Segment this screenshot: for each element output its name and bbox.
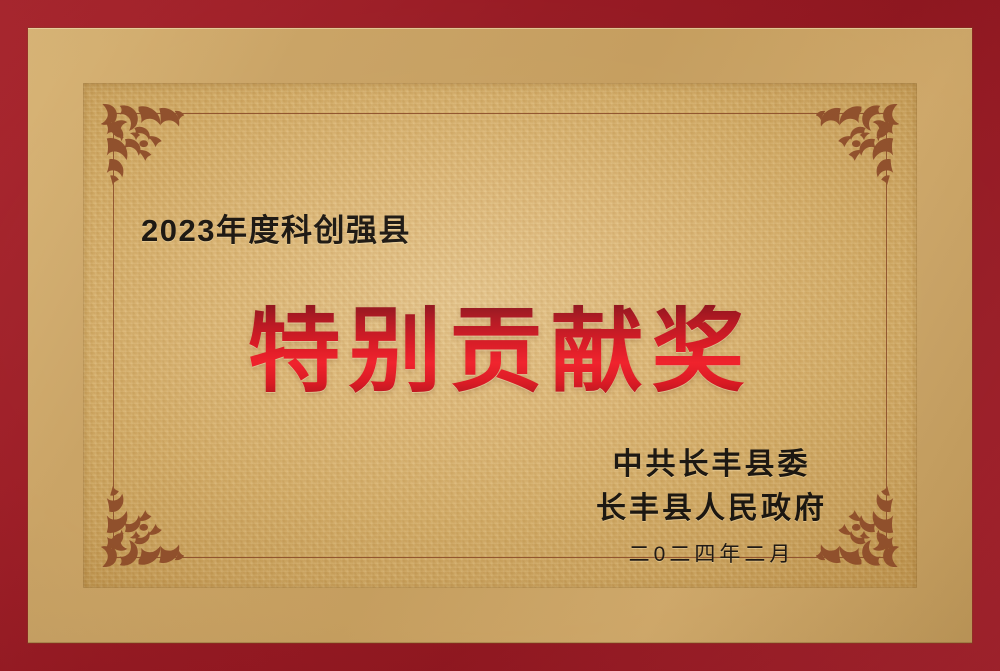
issue-date: 二0二四年二月 bbox=[596, 538, 827, 568]
award-title: 特别贡献奖 bbox=[83, 305, 917, 398]
issuer-line-1: 中共长丰县委 bbox=[596, 443, 827, 487]
award-plaque: 2023年度科创强县 特别贡献奖 中共长丰县委 长丰县人民政府 二0二四年二月 bbox=[0, 0, 1000, 671]
gold-bevel-band: 2023年度科创强县 特别贡献奖 中共长丰县委 长丰县人民政府 二0二四年二月 bbox=[28, 28, 972, 643]
corner-flourish-icon-top-right bbox=[815, 99, 901, 185]
issuer-signature-block: 中共长丰县委 长丰县人民政府 二0二四年二月 bbox=[596, 443, 827, 568]
corner-flourish-icon-bottom-right bbox=[815, 486, 901, 572]
certificate-panel: 2023年度科创强县 特别贡献奖 中共长丰县委 长丰县人民政府 二0二四年二月 bbox=[83, 83, 917, 588]
award-subject-line: 2023年度科创强县 bbox=[141, 205, 411, 250]
issuer-line-2: 长丰县人民政府 bbox=[596, 487, 827, 531]
corner-flourish-icon-top-left bbox=[99, 99, 185, 185]
corner-flourish-icon-bottom-left bbox=[99, 486, 185, 572]
